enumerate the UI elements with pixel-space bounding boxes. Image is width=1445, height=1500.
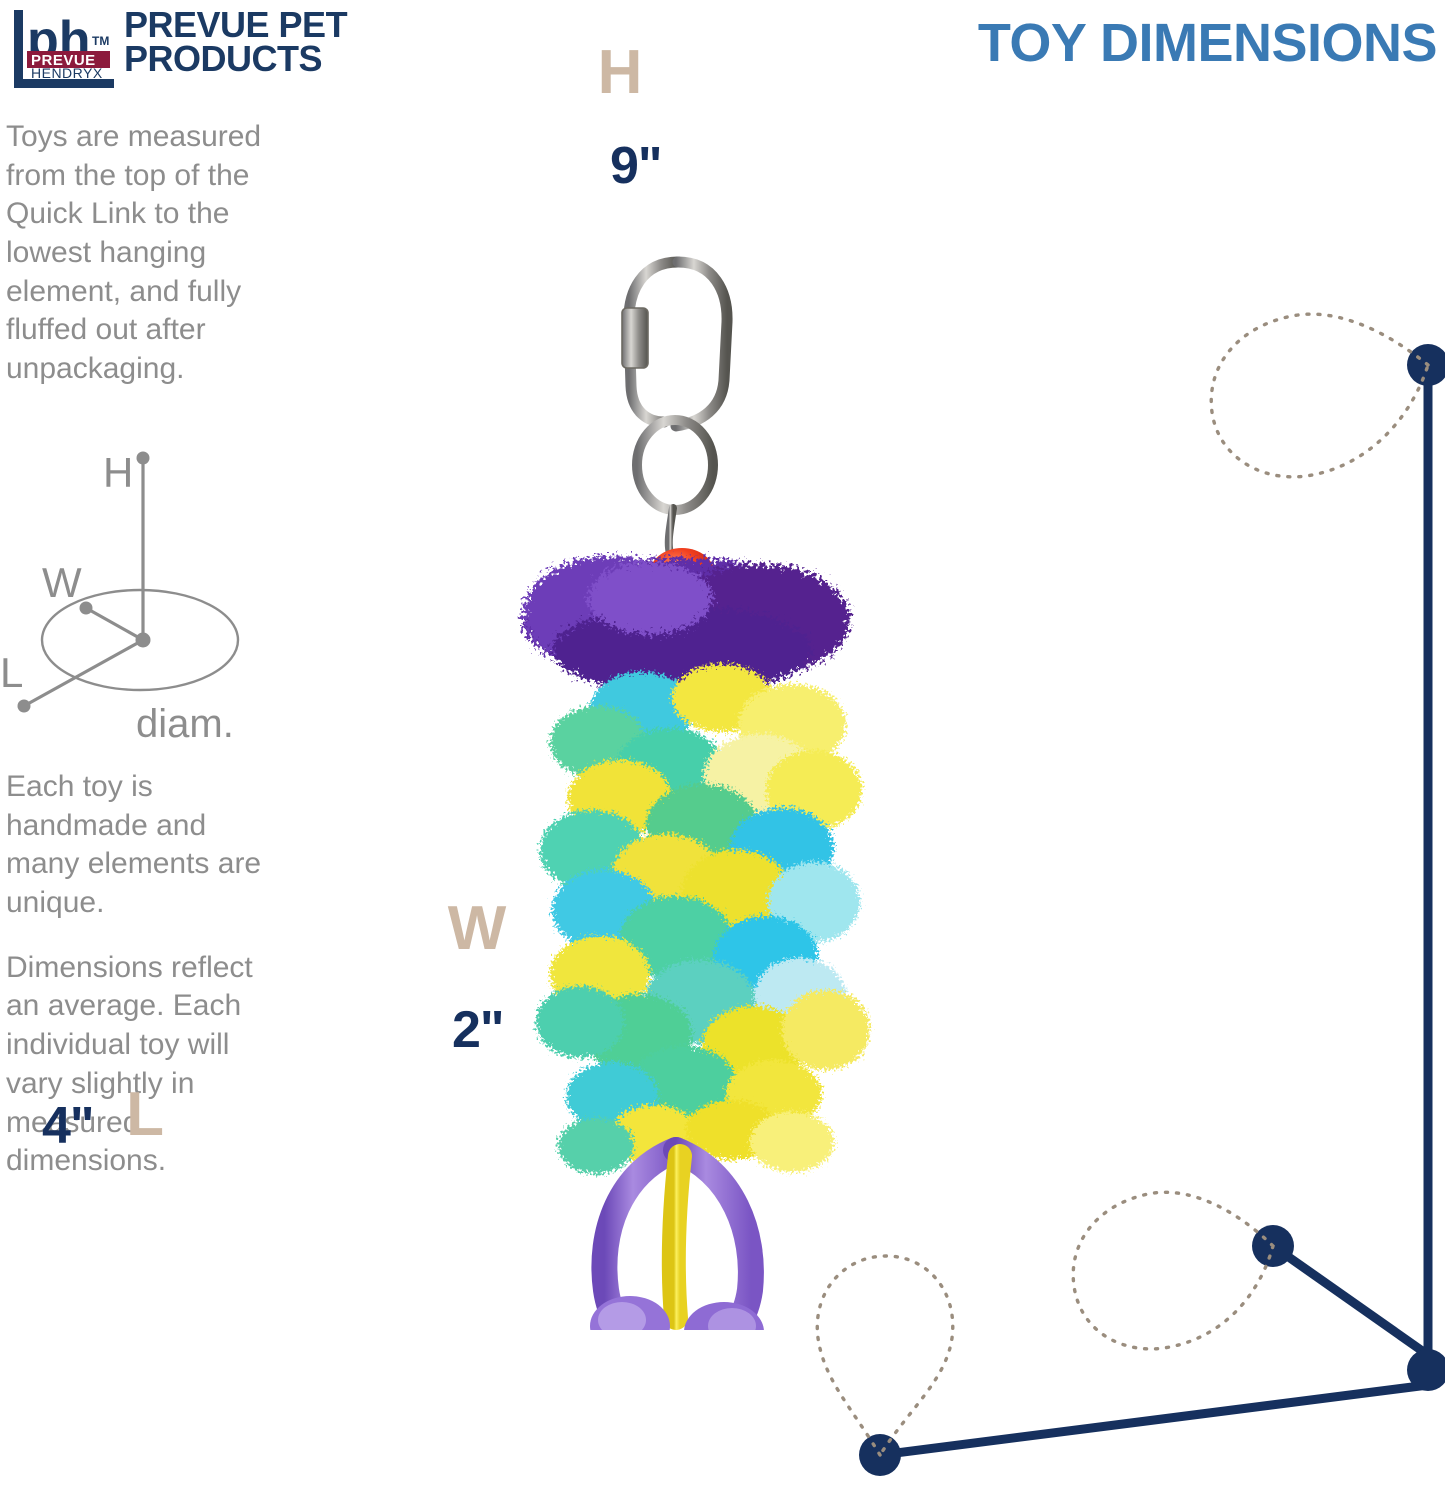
length-dimension-line	[880, 1385, 1428, 1455]
width-dimension-line	[1273, 1246, 1428, 1355]
width-pin-letter: W	[432, 898, 522, 960]
height-pin-marker	[1211, 314, 1428, 477]
height-axis-endpoint	[137, 452, 150, 465]
width-pin-marker	[1073, 1192, 1273, 1349]
yellow-rope-strand	[674, 1156, 680, 1318]
width-axis-line	[86, 608, 143, 640]
brand-wordmark: PREVUE PET PRODUCTS	[124, 8, 444, 76]
svg-text:HENDRYX: HENDRYX	[31, 65, 103, 81]
axis-label-h: H	[103, 449, 133, 496]
svg-text:TM: TM	[92, 34, 109, 48]
quick-link-ring	[637, 420, 713, 510]
length-dimension-value: 4"	[42, 1096, 94, 1156]
length-axis-endpoint	[18, 700, 31, 713]
axis-label-diam: diam.	[136, 702, 234, 745]
measurement-note: Toys are measured from the top of the Qu…	[6, 118, 296, 389]
handmade-note: Each toy is handmade and many elements a…	[6, 768, 276, 923]
length-axis-line	[24, 640, 143, 706]
wordmark-line-2: PRODUCTS	[124, 42, 444, 76]
width-dimension-value: 2"	[452, 1000, 504, 1060]
height-dimension-value: 9"	[610, 136, 662, 196]
prevue-hendryx-logo-icon: ph TM PREVUE HENDRYX	[14, 10, 114, 88]
dimension-diagram	[720, 290, 1445, 1500]
axis-label-w: W	[42, 559, 82, 606]
axis-origin	[136, 633, 151, 648]
length-pin-letter: L	[110, 1084, 180, 1146]
quick-link-hardware	[622, 262, 727, 554]
brand-logo: ph TM PREVUE HENDRYX PREVUE PET PRODUCTS	[14, 8, 434, 88]
toy-dimensions-infographic: ph TM PREVUE HENDRYX PREVUE PET PRODUCTS…	[0, 0, 1445, 1500]
axis-legend-diagram: H W L diam.	[0, 425, 280, 745]
height-pin-letter: H	[580, 42, 660, 104]
sidebar-text-top: Toys are measured from the top of the Qu…	[6, 118, 296, 415]
wordmark-line-1: PREVUE PET	[124, 8, 444, 42]
page-title: TOY DIMENSIONS	[978, 12, 1437, 74]
length-pin-marker	[817, 1256, 952, 1455]
axis-label-l: L	[0, 649, 23, 696]
